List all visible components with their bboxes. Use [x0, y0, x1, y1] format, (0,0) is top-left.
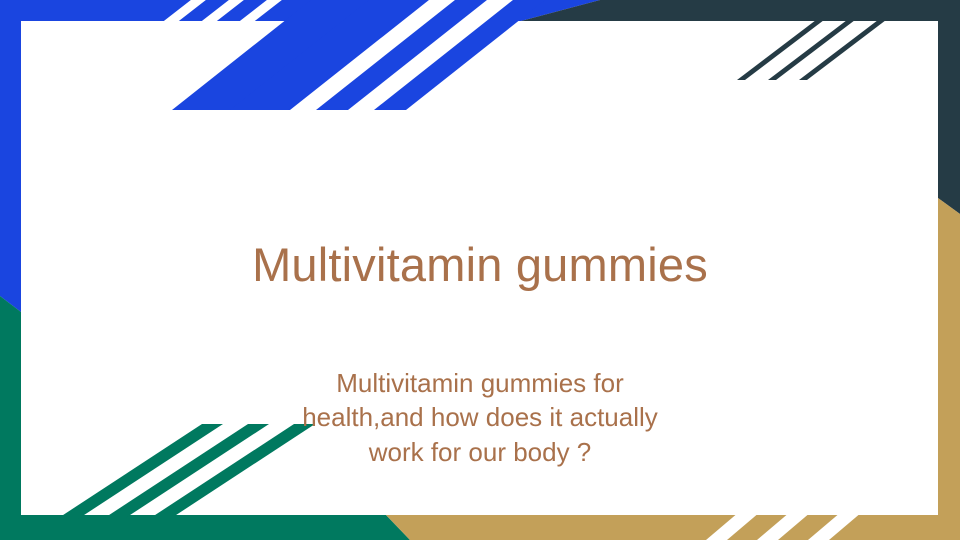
page-title[interactable]: Multivitamin gummies [120, 237, 840, 292]
slide-text-area: Multivitamin gummies Multivitamin gummie… [0, 0, 960, 540]
subtitle-line-2: health,and how does it actually [180, 400, 780, 434]
title-slide: Multivitamin gummies Multivitamin gummie… [0, 0, 960, 540]
subtitle-line-3: work for our body ? [180, 435, 780, 469]
subtitle-line-1: Multivitamin gummies for [180, 366, 780, 400]
slide-subtitle[interactable]: Multivitamin gummies for health,and how … [180, 366, 780, 469]
